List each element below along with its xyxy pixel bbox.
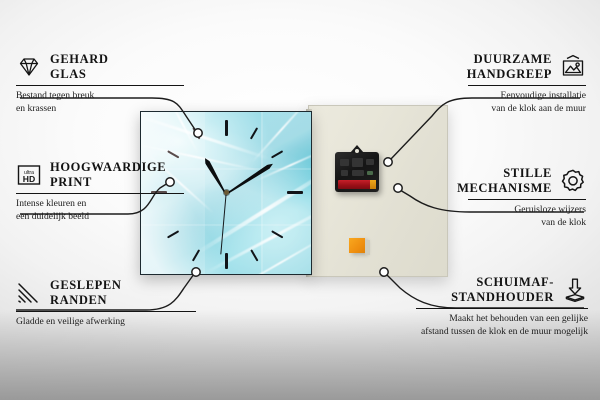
foam-spacer-side	[365, 240, 370, 255]
feature-desc-line1: Intense kleuren en	[16, 198, 184, 211]
clock-mechanism	[335, 152, 379, 192]
feature-description: Gladde en veilige afwerking	[16, 316, 196, 329]
feature-title-line1: HOOGWAARDIGE	[50, 160, 166, 175]
feature-head: GESLEPEN RANDEN	[16, 278, 196, 308]
mechanism-detail	[340, 159, 349, 166]
feature-title-line2: PRINT	[50, 175, 166, 190]
mechanism-detail	[352, 170, 364, 176]
feature-divider	[16, 311, 196, 312]
feature-title-line2: GLAS	[50, 67, 108, 82]
clock-hands-hub	[224, 190, 229, 195]
feature-description: Intense kleuren en een duidelijk beeld	[16, 198, 184, 224]
feature-head: DUURZAME HANDGREEP	[468, 52, 586, 82]
battery	[338, 180, 376, 189]
feature-hoogwaardige-print: ultra HD HOOGWAARDIGE PRINT Intense kleu…	[16, 160, 184, 224]
mechanism-hanger-hole	[355, 149, 359, 153]
ultra-hd-icon: ultra HD	[16, 162, 42, 188]
feature-schuimafstandhouder: SCHUIMAF- STANDHOUDER Maakt het behouden…	[416, 275, 588, 339]
diagonal-edges-icon	[16, 280, 42, 306]
feature-title-line1: GEHARD	[50, 52, 108, 67]
feature-desc-line1: Maakt het behouden van een gelijke	[416, 313, 588, 326]
feature-head: ultra HD HOOGWAARDIGE PRINT	[16, 160, 184, 190]
feature-stille-mechanisme: STILLE MECHANISME Geruisloze wijzers van…	[468, 166, 586, 230]
svg-text:HD: HD	[23, 174, 35, 184]
feature-divider	[468, 199, 586, 200]
picture-hanger-icon	[560, 54, 586, 80]
feature-title-line2: STANDHOUDER	[451, 290, 554, 305]
feature-geslepen-randen: GESLEPEN RANDEN Gladde en veilige afwerk…	[16, 278, 196, 329]
mechanism-detail	[352, 158, 363, 167]
battery-terminal	[370, 180, 376, 189]
feature-head: GEHARD GLAS	[16, 52, 184, 82]
mechanism-detail	[341, 170, 348, 176]
feature-duurzame-handgreep: DUURZAME HANDGREEP Eenvoudige installati…	[468, 52, 586, 116]
feature-description: Geruisloze wijzers van de klok	[446, 204, 586, 230]
feature-title-line1: SCHUIMAF-	[451, 275, 554, 290]
feature-desc-line2: een duidelijk beeld	[16, 211, 184, 224]
feature-divider	[16, 193, 184, 194]
feature-head: STILLE MECHANISME	[468, 166, 586, 196]
feature-title-line1: DUURZAME	[467, 52, 552, 67]
feature-title: DUURZAME HANDGREEP	[467, 52, 552, 82]
mechanism-detail	[366, 159, 374, 165]
feature-title: GEHARD GLAS	[50, 52, 108, 82]
feature-title: GESLEPEN RANDEN	[50, 278, 122, 308]
infographic-canvas: GEHARD GLAS Bestand tegen breuk en krass…	[0, 0, 600, 400]
feature-divider	[416, 308, 588, 309]
feature-description: Eenvoudige installatie van de klok aan d…	[446, 90, 586, 116]
feature-description: Bestand tegen breuk en krassen	[16, 90, 184, 116]
feature-head: SCHUIMAF- STANDHOUDER	[416, 275, 588, 305]
feature-desc-line2: en krassen	[16, 103, 184, 116]
feature-desc-line1: Gladde en veilige afwerking	[16, 316, 196, 329]
feature-divider	[16, 85, 184, 86]
feature-title-line2: HANDGREEP	[467, 67, 552, 82]
feature-divider	[468, 85, 586, 86]
feature-desc-line2: afstand tussen de klok en de muur mogeli…	[416, 326, 588, 339]
feature-title: SCHUIMAF- STANDHOUDER	[451, 275, 554, 305]
feature-gehard-glas: GEHARD GLAS Bestand tegen breuk en krass…	[16, 52, 184, 116]
feature-description: Maakt het behouden van een gelijke afsta…	[416, 313, 588, 339]
feature-title: STILLE MECHANISME	[457, 166, 552, 196]
feature-desc-line1: Geruisloze wijzers	[446, 204, 586, 217]
gear-icon	[560, 168, 586, 194]
feature-title-line1: GESLEPEN	[50, 278, 122, 293]
spacer-down-arrow-icon	[562, 277, 588, 303]
mechanism-detail	[367, 171, 373, 175]
feature-desc-line1: Bestand tegen breuk	[16, 90, 184, 103]
feature-title-line2: RANDEN	[50, 293, 122, 308]
feature-title-line1: STILLE	[457, 166, 552, 181]
diamond-icon	[16, 54, 42, 80]
feature-desc-line2: van de klok aan de muur	[446, 103, 586, 116]
foam-spacer	[349, 238, 365, 253]
feature-desc-line2: van de klok	[446, 217, 586, 230]
clock-back-panel	[308, 105, 448, 277]
feature-title-line2: MECHANISME	[457, 181, 552, 196]
feature-title: HOOGWAARDIGE PRINT	[50, 160, 166, 190]
feature-desc-line1: Eenvoudige installatie	[446, 90, 586, 103]
